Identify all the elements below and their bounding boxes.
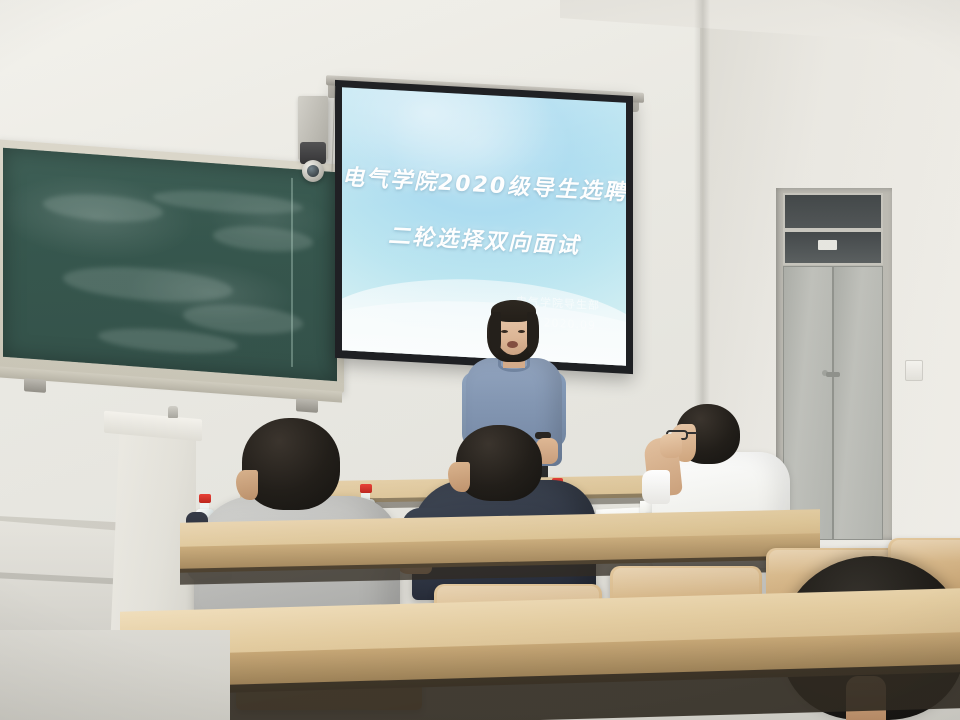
- attendee-right-hand: [660, 434, 682, 458]
- chalk-smudge: [43, 191, 163, 226]
- slide-date: 2020.09: [544, 316, 597, 332]
- door-transom-bar: [783, 228, 883, 232]
- slide-surface: 电气学院2020级导生选聘 二轮选择双向面试 电气学院导生部 2020.09: [342, 87, 626, 365]
- door-panel-left[interactable]: [783, 266, 833, 540]
- bottle-cap-icon: [199, 494, 211, 503]
- blackboard-divider: [291, 178, 293, 367]
- presenter-mouth: [507, 341, 518, 348]
- presenter-hair-left: [489, 312, 501, 354]
- glasses-temple-icon: [687, 432, 697, 434]
- chalk-smudge: [183, 301, 303, 338]
- camera-lens-icon: [307, 165, 319, 177]
- light-switch[interactable]: [905, 360, 923, 381]
- chalk-smudge: [63, 262, 233, 306]
- presenter-eye-left: [501, 330, 508, 333]
- slide-title-line-2: 二轮选择双向面试: [342, 215, 626, 262]
- door-transom-sign: [818, 240, 837, 250]
- door-handle[interactable]: [826, 372, 840, 377]
- chalk-smudge: [153, 187, 303, 218]
- tray-bracket: [296, 398, 318, 413]
- chalk-smudge: [213, 223, 313, 254]
- floor-front-left: [0, 630, 230, 720]
- presenter-eye-right: [518, 330, 525, 333]
- bottle-cap-icon: [360, 484, 372, 493]
- lectern-knob: [168, 406, 178, 418]
- tray-bracket: [24, 378, 46, 393]
- blackboard-surface: [3, 148, 337, 382]
- projection-screen[interactable]: 电气学院2020级导生选聘 二轮选择双向面试 电气学院导生部 2020.09: [335, 80, 633, 374]
- slide-title-line-1: 电气学院2020级导生选聘: [342, 159, 626, 206]
- attendee-right-sleeve: [642, 470, 670, 504]
- door-panel-right[interactable]: [833, 266, 883, 540]
- classroom-scene: 电气学院2020级导生选聘 二轮选择双向面试 电气学院导生部 2020.09: [0, 0, 960, 720]
- blackboard: [0, 139, 344, 393]
